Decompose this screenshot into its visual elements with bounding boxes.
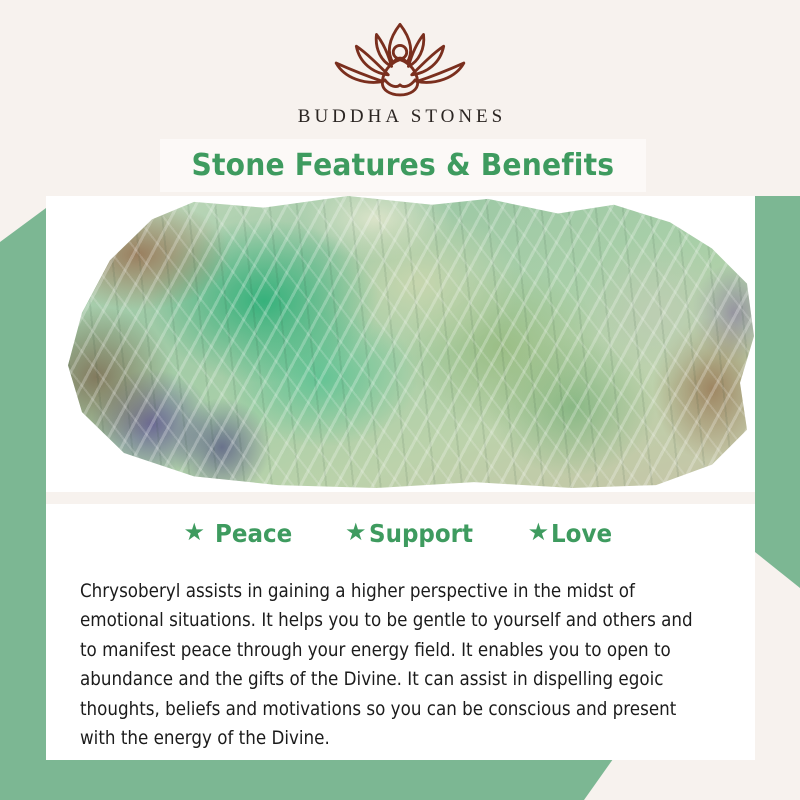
stone-photo-body (54, 196, 754, 488)
lotus-meditation-icon (315, 16, 485, 100)
keyword-label: Love (551, 519, 612, 548)
poster-root: BUDDHA STONES Stone Features & Benefits … (0, 0, 800, 800)
keyword-label: Support (369, 519, 473, 548)
page-title: Stone Features & Benefits (192, 148, 615, 183)
brand-name: BUDDHA STONES (0, 106, 800, 128)
brand-logo: BUDDHA STONES (0, 16, 800, 128)
photo-underline (46, 492, 755, 504)
star-icon: ★ (184, 521, 206, 545)
keyword-support: ★ Support (345, 519, 482, 548)
star-icon: ★ (528, 521, 550, 545)
frame-band-left (0, 208, 46, 768)
keyword-row: ★ Peace ★ Support ★ Love (46, 512, 755, 554)
keyword-label: Peace (215, 519, 292, 548)
stone-description: Chrysoberyl assists in gaining a higher … (80, 577, 701, 754)
stone-photo: Chrysoberyl（Cat's Eye） (46, 196, 755, 496)
keyword-love: ★ Love (528, 519, 618, 548)
star-icon: ★ (345, 521, 367, 545)
keyword-peace: ★ Peace (184, 519, 299, 548)
title-plate: Stone Features & Benefits (160, 139, 646, 192)
